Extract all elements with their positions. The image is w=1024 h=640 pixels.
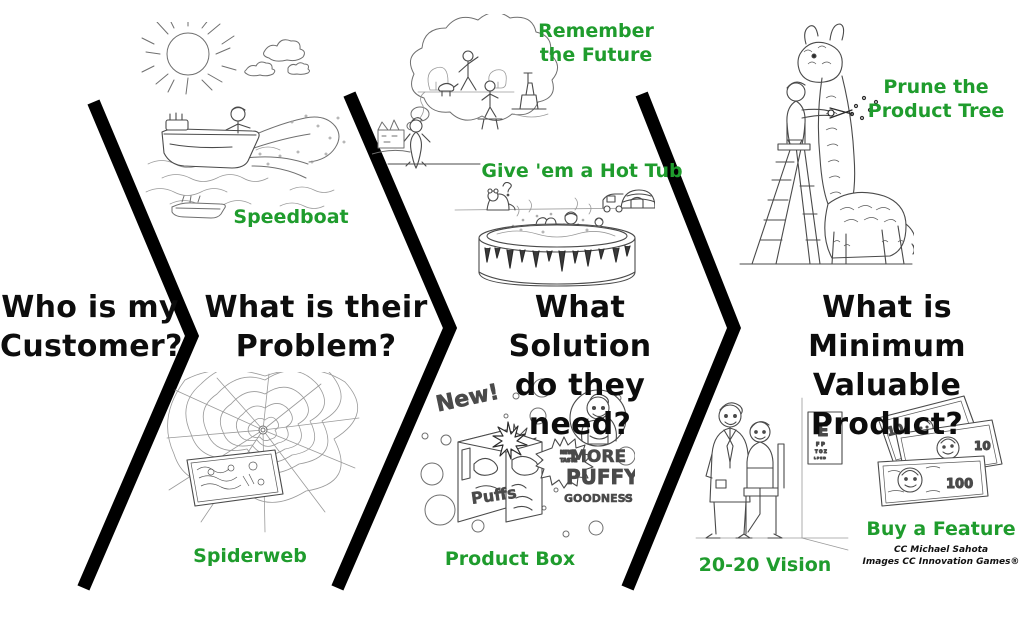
art-text-goodness: GOODNESS (564, 492, 633, 505)
question-customer: Who is my Customer? (0, 288, 180, 366)
art-text-puffy: PUFFY (566, 465, 635, 489)
label-prune-product-tree: Prune the Product Tree (848, 76, 1024, 124)
label-hot-tub: Give 'em a Hot Tub (472, 160, 692, 184)
spiderweb-illustration (165, 372, 365, 537)
label-speedboat: Speedboat (226, 206, 356, 230)
hot-tub-illustration (425, 182, 655, 287)
infographic-canvas: Speedboat (0, 0, 1024, 640)
speedboat-illustration (140, 22, 355, 227)
svg-text:L P E D: L P E D (814, 456, 826, 460)
question-solution: What Solution do they need? (460, 288, 700, 444)
attribution-text: CC Michael Sahota Images CC Innovation G… (852, 544, 1024, 568)
prune-product-tree-illustration (734, 18, 914, 280)
label-remember-the-future: Remember the Future (516, 20, 676, 68)
art-text-more: MORE (570, 447, 626, 467)
svg-text:T O Z: T O Z (815, 449, 827, 454)
art-text-hundred: 100 (946, 477, 973, 492)
question-problem: What is their Problem? (196, 288, 436, 366)
label-vision-2020: 20-20 Vision (690, 554, 840, 578)
label-product-box: Product Box (430, 548, 590, 572)
label-buy-a-feature: Buy a Feature (858, 518, 1024, 542)
label-spiderweb: Spiderweb (185, 545, 315, 569)
question-mvp: What is Minimum Valuable Product? (750, 288, 1024, 444)
